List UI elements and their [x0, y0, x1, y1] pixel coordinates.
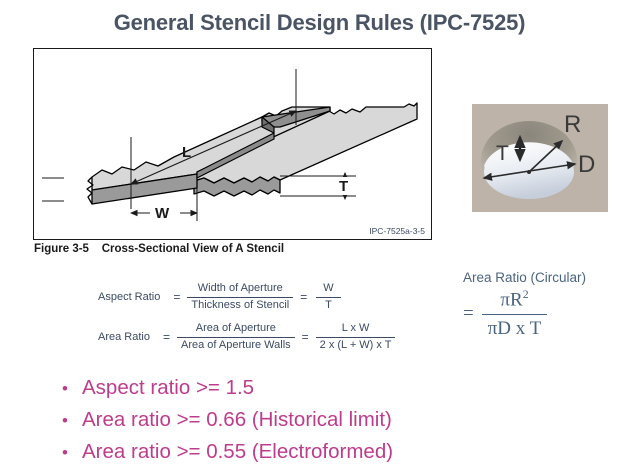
- bullet-glyph: •: [62, 437, 82, 468]
- area-ratio-numerator: Area of Aperture: [192, 322, 280, 337]
- area-ratio-denominator: Area of Aperture Walls: [177, 337, 295, 353]
- circular-area-ratio-title: Area Ratio (Circular): [463, 270, 586, 285]
- figure-caption: Figure 3-5 Cross-Sectional View of A Ste…: [34, 243, 284, 255]
- aspect-ratio-fraction: Width of Aperture Thickness of Stencil: [187, 282, 293, 313]
- aperture-label-thickness: T: [496, 142, 509, 165]
- circular-area-ratio-formula: Area Ratio (Circular) = πR2 πD x T: [463, 270, 586, 341]
- circular-area-ratio-denominator: πD x T: [482, 314, 548, 341]
- area-ratio-result-denominator: 2 x (L + W) x T: [316, 337, 396, 353]
- aperture-label-radius: R: [564, 111, 581, 138]
- rule-text: Aspect ratio >= 1.5: [82, 372, 254, 403]
- circular-area-ratio-numerator: πR: [500, 289, 522, 310]
- design-rules-list: • Aspect ratio >= 1.5 • Area ratio >= 0.…: [62, 372, 393, 468]
- circular-area-ratio-numerator-wrapper: πR2: [494, 288, 534, 314]
- area-ratio-equals-1: =: [156, 330, 177, 344]
- rule-text: Area ratio >= 0.66 (Historical limit): [82, 404, 392, 435]
- aspect-ratio-result-numerator: W: [314, 282, 342, 297]
- aspect-ratio-denominator: Thickness of Stencil: [187, 297, 293, 313]
- aspect-ratio-equals-2: =: [293, 290, 314, 304]
- stencil-isometric-drawing: L W T: [34, 49, 431, 239]
- area-ratio-fraction: Area of Aperture Area of Aperture Walls: [177, 322, 295, 353]
- circular-area-ratio-equals: =: [463, 303, 482, 325]
- aspect-ratio-result-denominator: T: [316, 297, 341, 313]
- stencil-figure-box: L W T IPC-7525a-3-5: [33, 48, 432, 240]
- aspect-ratio-numerator: Width of Aperture: [194, 282, 287, 297]
- area-ratio-equals-2: =: [295, 330, 316, 344]
- list-item: • Area ratio >= 0.66 (Historical limit): [62, 404, 393, 436]
- list-item: • Aspect ratio >= 1.5: [62, 372, 393, 404]
- circular-area-ratio-fraction: πR2 πD x T: [482, 288, 548, 341]
- page-title: General Stencil Design Rules (IPC-7525): [0, 10, 639, 36]
- aspect-ratio-result-fraction: W T: [314, 282, 342, 313]
- figure-reference-code: IPC-7525a-3-5: [369, 226, 425, 236]
- circular-area-ratio-exponent: 2: [523, 288, 529, 301]
- bullet-glyph: •: [62, 405, 82, 436]
- area-ratio-label: Area Ratio: [98, 331, 156, 343]
- aspect-ratio-label: Aspect Ratio: [98, 291, 166, 303]
- rule-text: Area ratio >= 0.55 (Electroformed): [82, 436, 393, 467]
- bullet-glyph: •: [62, 373, 82, 404]
- circular-aperture-image: T R D: [472, 104, 608, 212]
- aspect-ratio-equals-1: =: [166, 290, 187, 304]
- area-ratio-result-fraction: L x W 2 x (L + W) x T: [316, 322, 396, 353]
- area-ratio-formula: Area Ratio = Area of Aperture Area of Ap…: [98, 322, 395, 353]
- svg-text:W: W: [155, 205, 170, 222]
- list-item: • Area ratio >= 0.55 (Electroformed): [62, 436, 393, 468]
- aperture-illustration: T R D: [472, 104, 608, 212]
- aspect-ratio-formula: Aspect Ratio = Width of Aperture Thickne…: [98, 282, 343, 313]
- svg-text:T: T: [339, 178, 348, 195]
- svg-text:L: L: [182, 144, 191, 161]
- aperture-label-diameter: D: [578, 151, 595, 178]
- area-ratio-result-numerator: L x W: [338, 322, 374, 337]
